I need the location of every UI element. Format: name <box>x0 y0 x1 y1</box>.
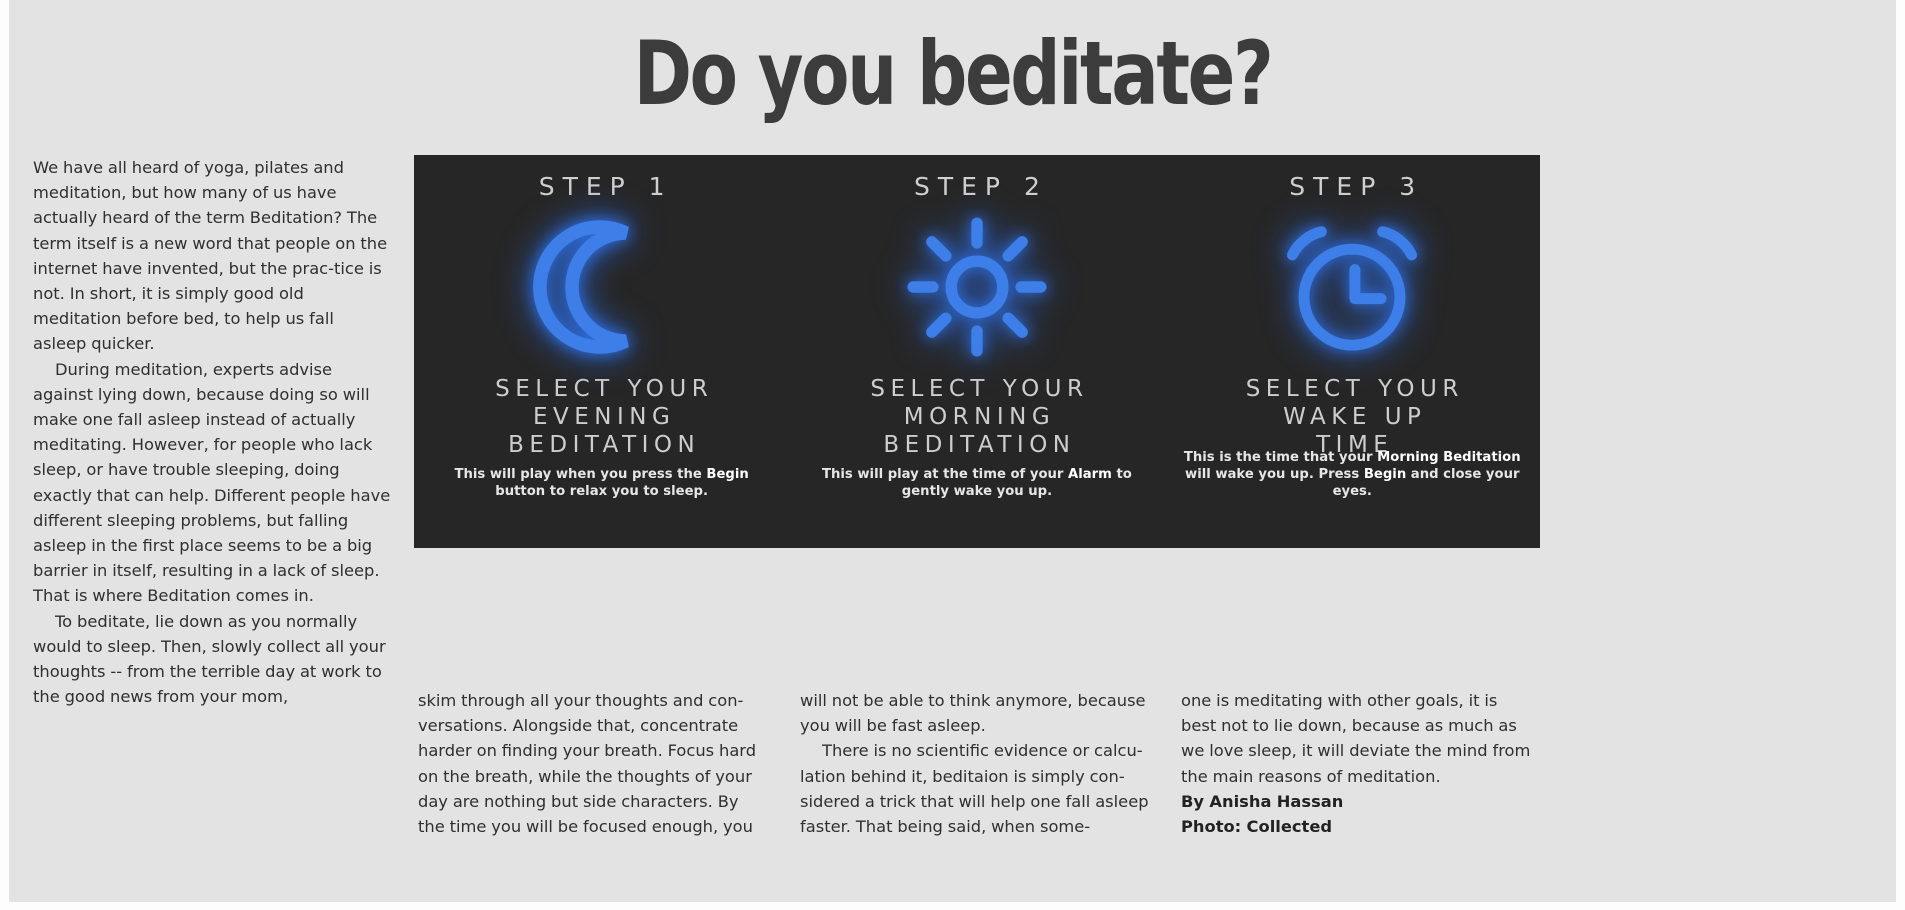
step-1-caption-line-2: EVENING <box>490 403 713 431</box>
step-2-desc-bold: Alarm <box>1068 467 1112 482</box>
step-2-description: This will play at the time of your Alarm… <box>789 466 1164 500</box>
paragraph: We have all heard of yoga, pilates and m… <box>33 155 391 357</box>
page-edge-right <box>1896 0 1905 910</box>
step-1-caption: SELECT YOUR EVENING BEDITATION <box>490 375 713 459</box>
step-2-label: STEP 2 <box>906 172 1048 201</box>
body-column-1: We have all heard of yoga, pilates and m… <box>33 155 391 709</box>
step-1-description: This will play when you press the Begin … <box>414 466 789 500</box>
body-column-4: one is meditating with other goals, it i… <box>1181 688 1533 839</box>
newspaper-page: Do you beditate? We have all heard of yo… <box>0 0 1905 910</box>
step-2-caption-line-3: BEDITATION <box>865 431 1088 459</box>
step-2-desc-before: This will play at the time of your <box>822 467 1068 482</box>
paragraph: During meditation, experts advise agains… <box>33 357 391 609</box>
paragraph: skim through all your thoughts and con-v… <box>418 688 768 839</box>
infographic-step-1: STEP 1 SELECT YOUR EVENING BEDITATION Th… <box>414 155 789 548</box>
step-3-desc-after: will wake you up. Press <box>1185 467 1364 482</box>
step-3-caption-line-2: WAKE UP <box>1241 403 1464 431</box>
step-3-desc-bold-2: Begin <box>1364 467 1406 482</box>
step-2-caption-line-2: MORNING <box>865 403 1088 431</box>
body-column-2: skim through all your thoughts and con-v… <box>418 688 768 839</box>
step-2-caption: SELECT YOUR MORNING BEDITATION <box>865 375 1088 459</box>
step-1-label: STEP 1 <box>531 172 673 201</box>
infographic-image: STEP 1 SELECT YOUR EVENING BEDITATION Th… <box>414 155 1540 548</box>
crescent-moon-icon <box>414 207 789 367</box>
step-3-label: STEP 3 <box>1281 172 1423 201</box>
page-edge-left <box>0 0 9 910</box>
step-3-desc-bold: Morning Beditation <box>1377 450 1520 465</box>
step-1-desc-after: button to relax you to sleep. <box>495 484 708 499</box>
paragraph: will not be able to think anymore, becau… <box>800 688 1152 738</box>
step-1-desc-before: This will play when you press the <box>455 467 707 482</box>
page-title: Do you beditate? <box>191 26 1715 122</box>
step-1-caption-line-3: BEDITATION <box>490 431 713 459</box>
step-3-description: This is the time that your Morning Bedit… <box>1165 449 1540 500</box>
page-edge-bottom <box>0 902 1905 910</box>
step-1-caption-line-1: SELECT YOUR <box>490 375 713 403</box>
byline-photo-credit: Photo: Collected <box>1181 814 1533 839</box>
step-1-desc-bold: Begin <box>706 467 748 482</box>
step-2-caption-line-1: SELECT YOUR <box>865 375 1088 403</box>
infographic-step-2: STEP 2 <box>789 155 1164 548</box>
alarm-clock-icon <box>1165 207 1540 367</box>
step-3-desc-before: This is the time that your <box>1184 450 1377 465</box>
sun-icon <box>789 207 1164 367</box>
infographic-step-3: STEP 3 SELECT YOUR WAKE UP TIME <box>1165 155 1540 548</box>
step-3-caption-line-1: SELECT YOUR <box>1241 375 1464 403</box>
body-column-3: will not be able to think anymore, becau… <box>800 688 1152 839</box>
paragraph: one is meditating with other goals, it i… <box>1181 688 1533 789</box>
paragraph: There is no scientific evidence or calcu… <box>800 738 1152 839</box>
step-3-caption: SELECT YOUR WAKE UP TIME <box>1241 375 1464 459</box>
byline-author: By Anisha Hassan <box>1181 789 1533 814</box>
paragraph: To beditate, lie down as you normally wo… <box>33 609 391 710</box>
